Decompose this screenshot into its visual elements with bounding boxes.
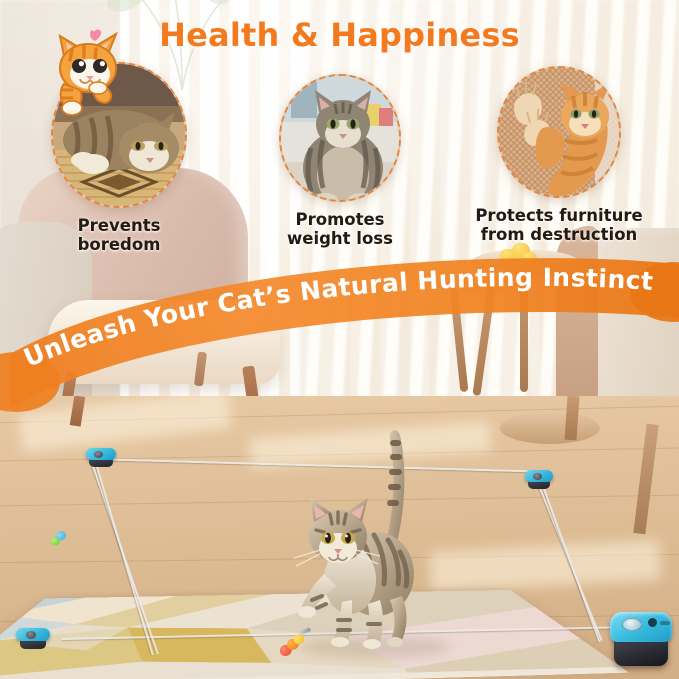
- chair-right-leg-2: [633, 424, 658, 535]
- cartoon-kitten-sticker: [46, 28, 138, 116]
- table-pedestal-base: [500, 412, 600, 444]
- walking-tabby-cat: [290, 424, 450, 654]
- feature-promotes-weight-loss: Promotes weight loss: [245, 74, 435, 249]
- track-anchor-top-left[interactable]: [86, 448, 116, 468]
- device-dial-icon[interactable]: [622, 618, 642, 631]
- feature-photo-2: [279, 74, 401, 202]
- device-vent-icon: [660, 621, 670, 625]
- product-poster: Health & Happiness: [0, 0, 679, 679]
- side-table-leg-1: [520, 272, 528, 392]
- feature-caption-1: Prevents boredom: [24, 216, 214, 255]
- feature-caption-3: Protects furniture from destruction: [464, 206, 654, 245]
- track-anchor-top-right[interactable]: [525, 470, 553, 490]
- feature-protects-furniture: Protects furniture from destruction: [464, 66, 654, 245]
- side-table-top-small: [430, 268, 522, 292]
- feature-caption-2: Promotes weight loss: [245, 210, 435, 249]
- automatic-cat-teaser-device[interactable]: [608, 612, 674, 670]
- device-top-cover: [610, 612, 672, 642]
- feature-photo-3: [497, 66, 621, 198]
- device-power-knob-icon[interactable]: [648, 618, 657, 627]
- track-anchor-bottom-left[interactable]: [16, 628, 50, 650]
